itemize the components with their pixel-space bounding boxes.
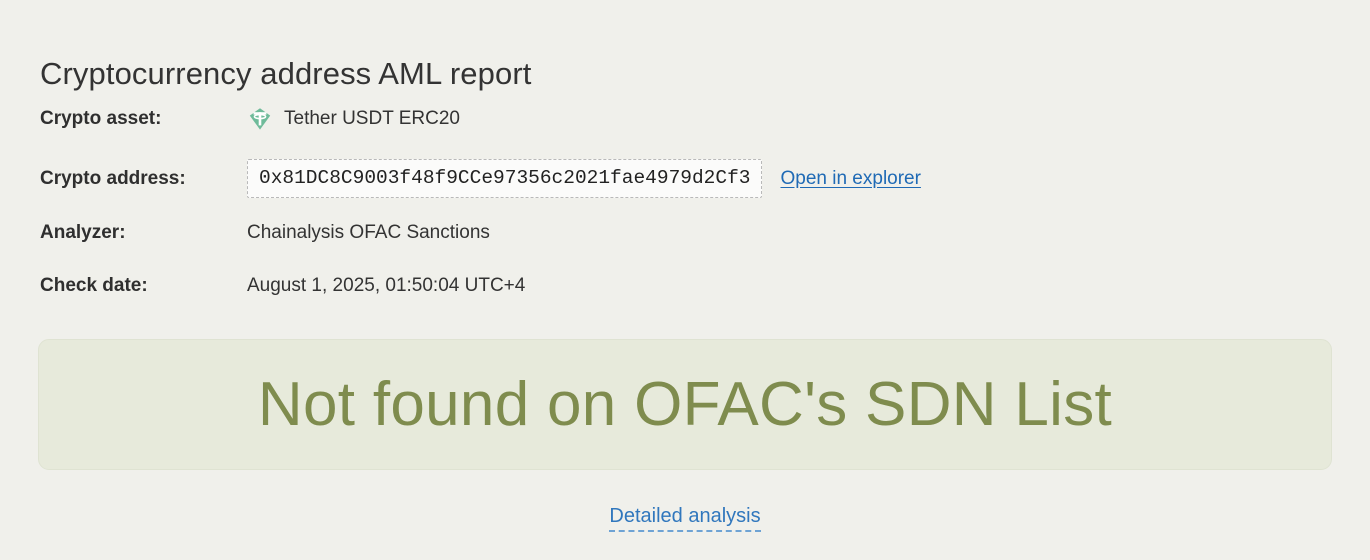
detailed-analysis-link[interactable]: Detailed analysis [609, 505, 760, 532]
meta-value-crypto-asset: Tether USDT ERC20 [247, 106, 460, 132]
meta-row-analyzer: Analyzer: Chainalysis OFAC Sanctions [40, 220, 1160, 246]
aml-result-text: Not found on OFAC's SDN List [258, 374, 1112, 436]
meta-value-analyzer: Chainalysis OFAC Sanctions [247, 222, 490, 244]
crypto-address-value[interactable]: 0x81DC8C9003f48f9CCe97356c2021fae4979d2C… [247, 159, 762, 198]
aml-result-banner: Not found on OFAC's SDN List [38, 339, 1332, 470]
meta-label-crypto-address: Crypto address: [40, 168, 247, 190]
tether-icon [247, 106, 273, 132]
open-in-explorer-link[interactable]: Open in explorer [780, 168, 920, 190]
report-meta-list: Crypto asset: Tether USDT ERC20 Crypto a… [40, 106, 1160, 326]
meta-label-crypto-asset: Crypto asset: [40, 108, 247, 130]
meta-row-crypto-asset: Crypto asset: Tether USDT ERC20 [40, 106, 1160, 132]
meta-label-check-date: Check date: [40, 275, 247, 297]
crypto-asset-name: Tether USDT ERC20 [284, 108, 460, 130]
meta-row-crypto-address: Crypto address: 0x81DC8C9003f48f9CCe9735… [40, 159, 1160, 198]
meta-row-check-date: Check date: August 1, 2025, 01:50:04 UTC… [40, 273, 1160, 299]
meta-label-analyzer: Analyzer: [40, 222, 247, 244]
aml-report-page: Cryptocurrency address AML report Crypto… [0, 0, 1370, 560]
meta-value-crypto-address: 0x81DC8C9003f48f9CCe97356c2021fae4979d2C… [247, 159, 921, 198]
footer-link-container: Detailed analysis [0, 505, 1370, 532]
meta-value-check-date: August 1, 2025, 01:50:04 UTC+4 [247, 275, 525, 297]
page-title: Cryptocurrency address AML report [40, 55, 531, 92]
